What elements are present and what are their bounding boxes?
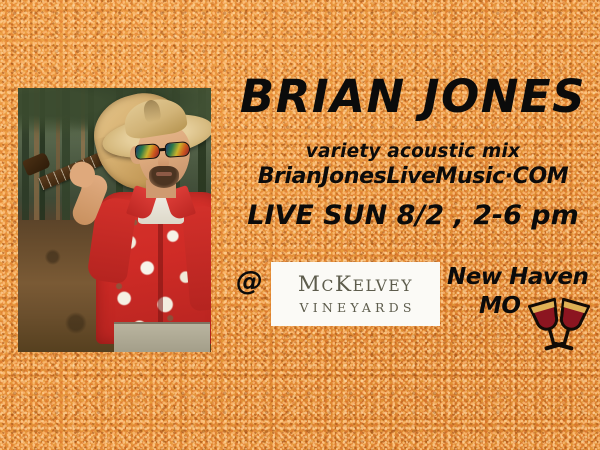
- shirt-placket: [158, 206, 163, 330]
- sunglass-lens-right: [164, 141, 190, 158]
- venue-logo-name-rest: ELVEY: [353, 277, 414, 295]
- artist-photo: [18, 88, 211, 352]
- khaki-pants: [114, 324, 210, 352]
- venue-logo-name-k: K: [335, 272, 353, 297]
- tagline: variety acoustic mix: [232, 141, 594, 162]
- wine-glasses-icon: [528, 296, 590, 352]
- event-flyer: BRIAN JONES variety acoustic mix BrianJo…: [0, 0, 600, 450]
- venue-city: New Haven: [447, 264, 588, 290]
- goatee: [149, 166, 179, 188]
- venue-logo-subtitle: VINEYARDS: [295, 302, 415, 315]
- mouth: [156, 172, 172, 176]
- venue-logo-name-m: M: [298, 272, 322, 297]
- venue-logo-name: MCKELVEY: [298, 274, 413, 296]
- website-link[interactable]: BrianJonesLiveMusic·COM: [232, 164, 594, 189]
- sunglass-lens-left: [135, 143, 161, 160]
- event-datetime: LIVE SUN 8/2 , 2-6 pm: [232, 200, 594, 231]
- venue-logo: MCKELVEY VINEYARDS: [271, 262, 440, 326]
- at-symbol: @: [236, 266, 263, 297]
- venue-logo-name-c: C: [321, 277, 334, 295]
- page-title: BRIAN JONES: [232, 74, 594, 119]
- venue-state: MO: [479, 293, 520, 319]
